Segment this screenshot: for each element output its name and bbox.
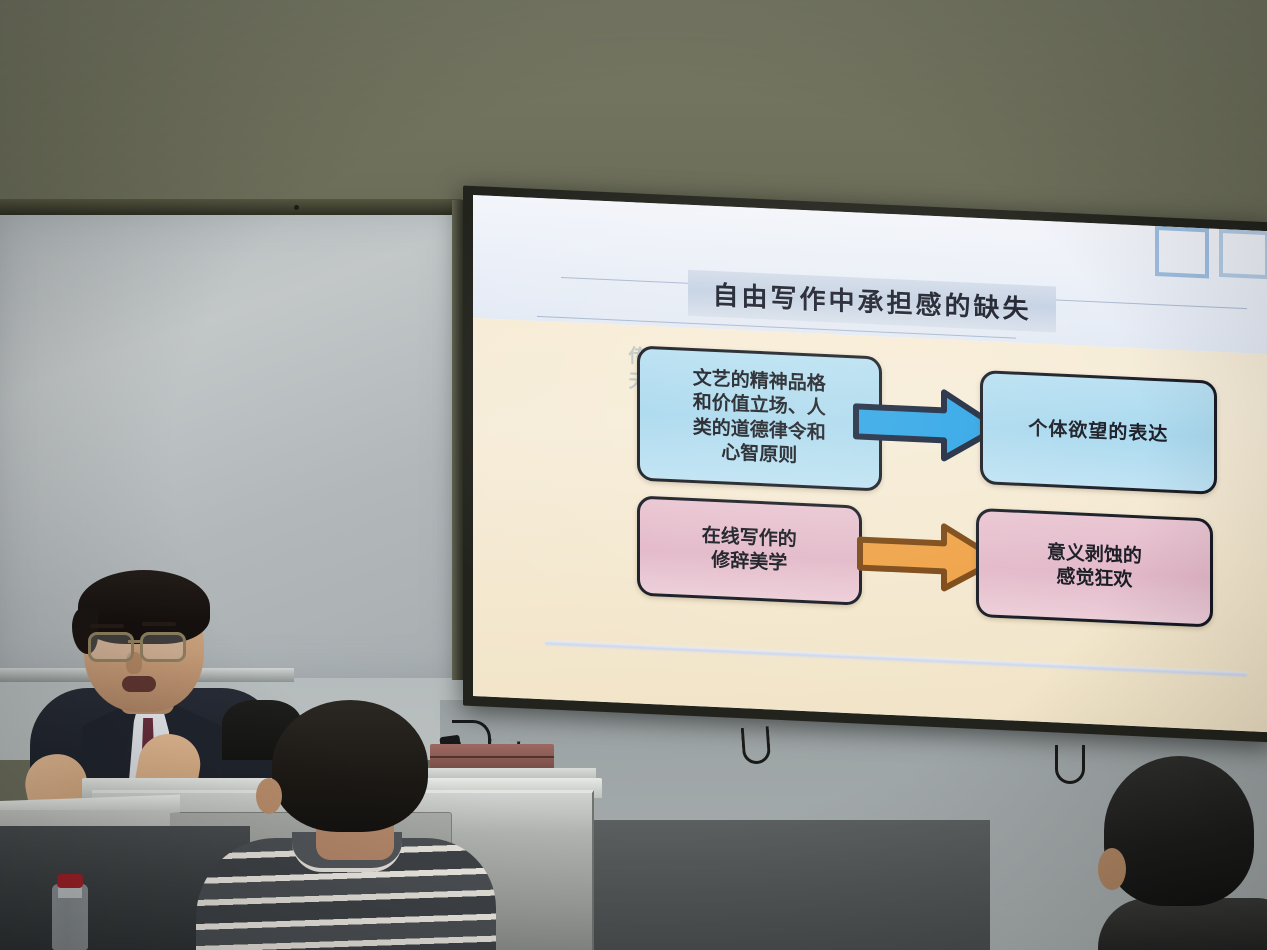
rear-desk <box>560 820 990 950</box>
water-bottle-cap <box>57 874 83 888</box>
presenter-mouth <box>122 676 156 692</box>
diagram-node-2: 个体欲望的表达 <box>980 370 1217 494</box>
decorative-squares <box>1155 226 1267 281</box>
audience-member-front <box>196 700 496 950</box>
slide-surface: 自由写作中承担感的缺失 传天 文艺的精神品格 和价值立场、人 类的道德律令和 心… <box>473 195 1267 732</box>
audience-ear <box>1098 848 1126 890</box>
audience-head <box>1104 756 1254 906</box>
whiteboard-rail <box>0 199 462 215</box>
hanging-cable <box>741 726 772 765</box>
audience-member-right <box>1078 756 1267 950</box>
presenter-eyebrow-left <box>90 624 124 628</box>
diagram-node-2-text: 个体欲望的表达 <box>1028 417 1168 448</box>
audience-ear <box>256 778 282 814</box>
audience-head <box>272 700 428 832</box>
lecture-photo-scene: 自由写作中承担感的缺失 传天 文艺的精神品格 和价值立场、人 类的道德律令和 心… <box>0 0 1267 950</box>
diagram-node-3-text: 在线写作的 修辞美学 <box>702 524 797 577</box>
diagram-node-1-text: 文艺的精神品格 和价值立场、人 类的道德律令和 心智原则 <box>693 367 826 470</box>
glasses-bridge <box>128 640 142 643</box>
presenter-eyebrow-right <box>142 622 176 626</box>
slide-diagram: 传天 文艺的精神品格 和价值立场、人 类的道德律令和 心智原则 <box>473 335 1267 652</box>
diagram-node-4-text: 意义剥蚀的 感觉狂欢 <box>1047 541 1142 594</box>
diagram-node-1: 文艺的精神品格 和价值立场、人 类的道德律令和 心智原则 <box>637 345 882 491</box>
glasses-icon <box>88 632 134 662</box>
diagram-node-4: 意义剥蚀的 感觉狂欢 <box>976 507 1213 627</box>
projection-screen: 自由写作中承担感的缺失 传天 文艺的精神品格 和价值立场、人 类的道德律令和 心… <box>463 186 1267 743</box>
diagram-row-2: 在线写作的 修辞美学 意义剥蚀的 感觉狂欢 <box>473 481 1267 629</box>
decorative-square-icon <box>1155 226 1209 278</box>
glasses-icon <box>140 632 186 662</box>
diagram-node-3: 在线写作的 修辞美学 <box>637 495 862 605</box>
decorative-square-icon <box>1219 229 1267 279</box>
